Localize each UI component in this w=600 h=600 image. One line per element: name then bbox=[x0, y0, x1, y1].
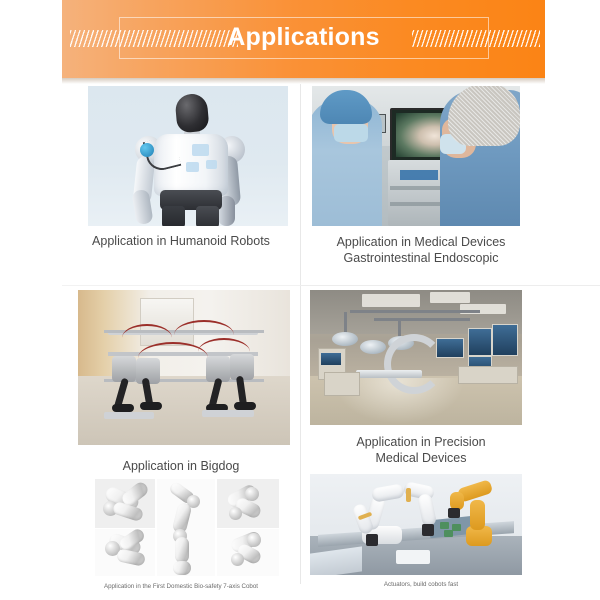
caption-medical-devices: Application in Medical Devices Gastroint… bbox=[302, 234, 540, 266]
cobot-center-base bbox=[173, 561, 191, 575]
cobot-3-joint-b bbox=[229, 507, 242, 520]
row-divider-right bbox=[300, 285, 600, 286]
robot-chest-panel-c bbox=[206, 160, 217, 169]
caption-precision-medical: Application in Precision Medical Devices bbox=[302, 434, 540, 466]
robot-base-plate-right bbox=[202, 410, 254, 417]
cobot-left-shoulder bbox=[371, 483, 405, 502]
header-shadow bbox=[62, 78, 545, 84]
robot-chest-panel-a bbox=[192, 144, 209, 156]
cobot-right-band bbox=[406, 488, 411, 502]
caption-line: Application in Medical Devices bbox=[302, 234, 540, 250]
ceiling-light-panel-b bbox=[430, 292, 470, 303]
robot-foot-2 bbox=[140, 402, 162, 410]
monitor-right-b bbox=[492, 324, 518, 356]
robot-foot-4 bbox=[234, 402, 256, 410]
clinician-right-hairnet bbox=[448, 86, 520, 146]
caption-bio-safety-cobot: Application in the First Domestic Bio-sa… bbox=[62, 582, 300, 591]
caption-line: Gastrointestinal Endoscopic bbox=[302, 250, 540, 266]
caption-line: Medical Devices bbox=[302, 450, 540, 466]
caption-line: Application in Humanoid Robots bbox=[62, 233, 300, 249]
cobot-left-gripper bbox=[366, 534, 378, 546]
cobot-right-gripper bbox=[422, 524, 434, 536]
control-box bbox=[396, 550, 430, 564]
chip-b bbox=[452, 524, 461, 531]
row-divider-left bbox=[62, 285, 300, 286]
monitor-center bbox=[436, 338, 464, 358]
caption-line: Actuators, build cobots fast bbox=[302, 580, 540, 589]
c-arm-imaging-system bbox=[384, 334, 444, 394]
caption-bigdog: Application in Bigdog bbox=[62, 458, 300, 474]
ceiling-rail-a bbox=[350, 310, 480, 313]
precision-medical-or-image bbox=[310, 290, 522, 425]
robot-foot-1 bbox=[112, 404, 134, 412]
surgical-light-left bbox=[332, 332, 358, 346]
robot-base-plate-left bbox=[104, 412, 154, 419]
actuators-cobots-image bbox=[310, 474, 522, 575]
cobot-5-joint-b bbox=[231, 553, 244, 566]
cart-control-panel bbox=[400, 170, 438, 180]
ceiling-light-panel-a bbox=[362, 294, 420, 307]
ceiling-rail-b bbox=[374, 318, 470, 321]
robot-chest-panel-b bbox=[186, 162, 199, 172]
robot-leg-right bbox=[196, 206, 219, 226]
medical-endoscopy-image bbox=[312, 86, 520, 226]
caption-line: Application in Bigdog bbox=[62, 458, 300, 474]
cobot-5-joint-a bbox=[247, 533, 261, 547]
cobot-right-upper-arm bbox=[417, 493, 437, 527]
monitor-left-small bbox=[320, 352, 342, 366]
page-title: Applications bbox=[62, 20, 545, 54]
monitor-right-a bbox=[468, 328, 492, 356]
caption-line: Application in the First Domestic Bio-sa… bbox=[62, 582, 300, 591]
robot-shoulder-joint-icon bbox=[140, 143, 154, 157]
robot-head bbox=[174, 93, 209, 134]
caption-actuators: Actuators, build cobots fast bbox=[302, 580, 540, 589]
humanoid-robot-image bbox=[88, 86, 288, 226]
cart-left bbox=[324, 372, 360, 396]
light-pole-left bbox=[344, 312, 347, 334]
industrial-robot-gripper bbox=[448, 508, 460, 518]
bigdog-robot-image bbox=[78, 290, 290, 445]
caption-line: Application in Precision bbox=[302, 434, 540, 450]
caption-humanoid-robots: Application in Humanoid Robots bbox=[62, 233, 300, 249]
lab-floor bbox=[78, 376, 290, 445]
applications-slide: Applications Application in Humanoid Rob… bbox=[0, 0, 600, 600]
column-divider bbox=[300, 84, 301, 584]
operating-table bbox=[356, 370, 422, 378]
chip-a bbox=[440, 522, 449, 529]
chip-c bbox=[444, 530, 453, 537]
counter-right bbox=[458, 366, 518, 384]
bio-safety-cobot-image bbox=[95, 479, 279, 576]
clinician-left-mask bbox=[334, 124, 368, 142]
surgical-light-mid bbox=[360, 340, 386, 354]
industrial-robot-lower-arm bbox=[470, 500, 485, 530]
robot-leg-left bbox=[162, 206, 185, 226]
header-banner: Applications bbox=[62, 0, 545, 78]
cobot-center-segment-c bbox=[175, 537, 189, 563]
